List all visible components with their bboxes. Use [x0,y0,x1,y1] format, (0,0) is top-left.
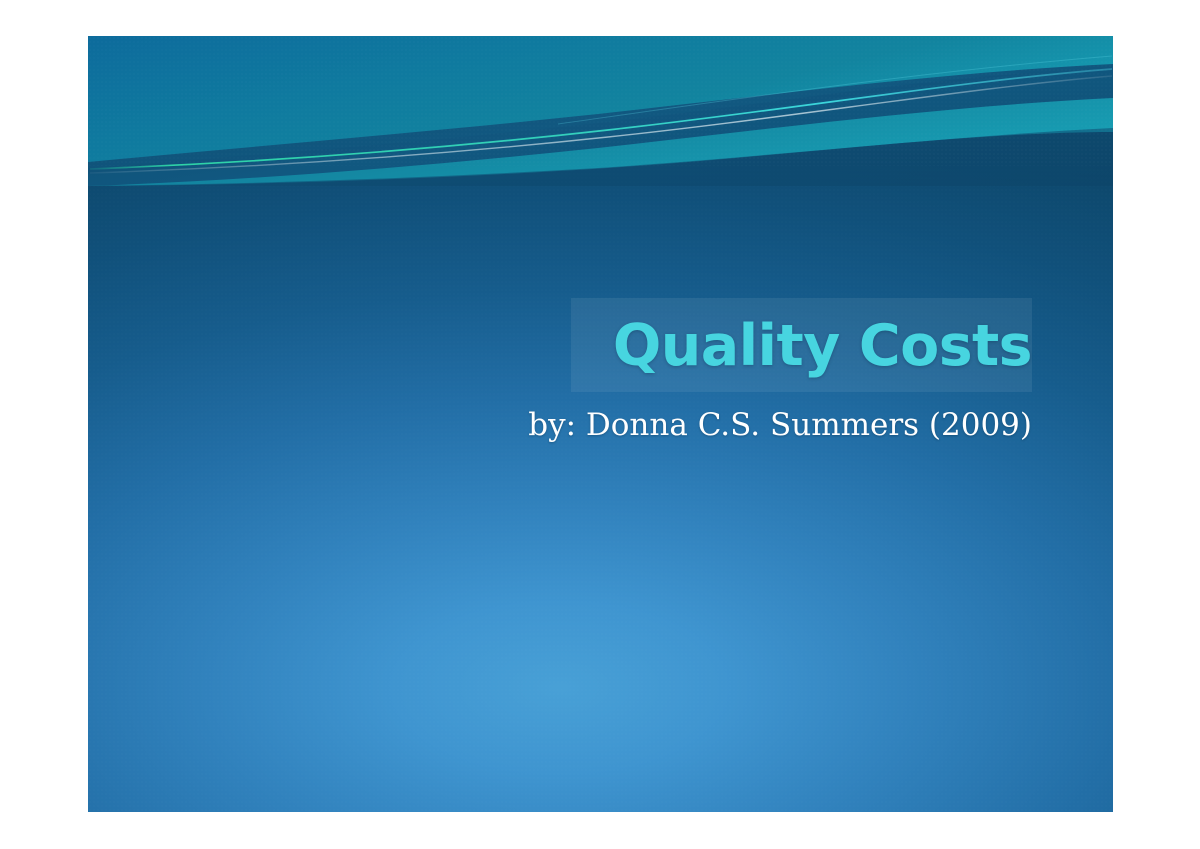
presentation-slide: Quality Costs by: Donna C.S. Summers (20… [88,36,1113,812]
top-swoosh-decoration [88,36,1113,186]
page-canvas: Quality Costs by: Donna C.S. Summers (20… [0,0,1200,849]
slide-subtitle: by: Donna C.S. Summers (2009) [418,408,1038,444]
swoosh-svg [88,36,1113,186]
slide-title: Quality Costs [571,301,1037,391]
